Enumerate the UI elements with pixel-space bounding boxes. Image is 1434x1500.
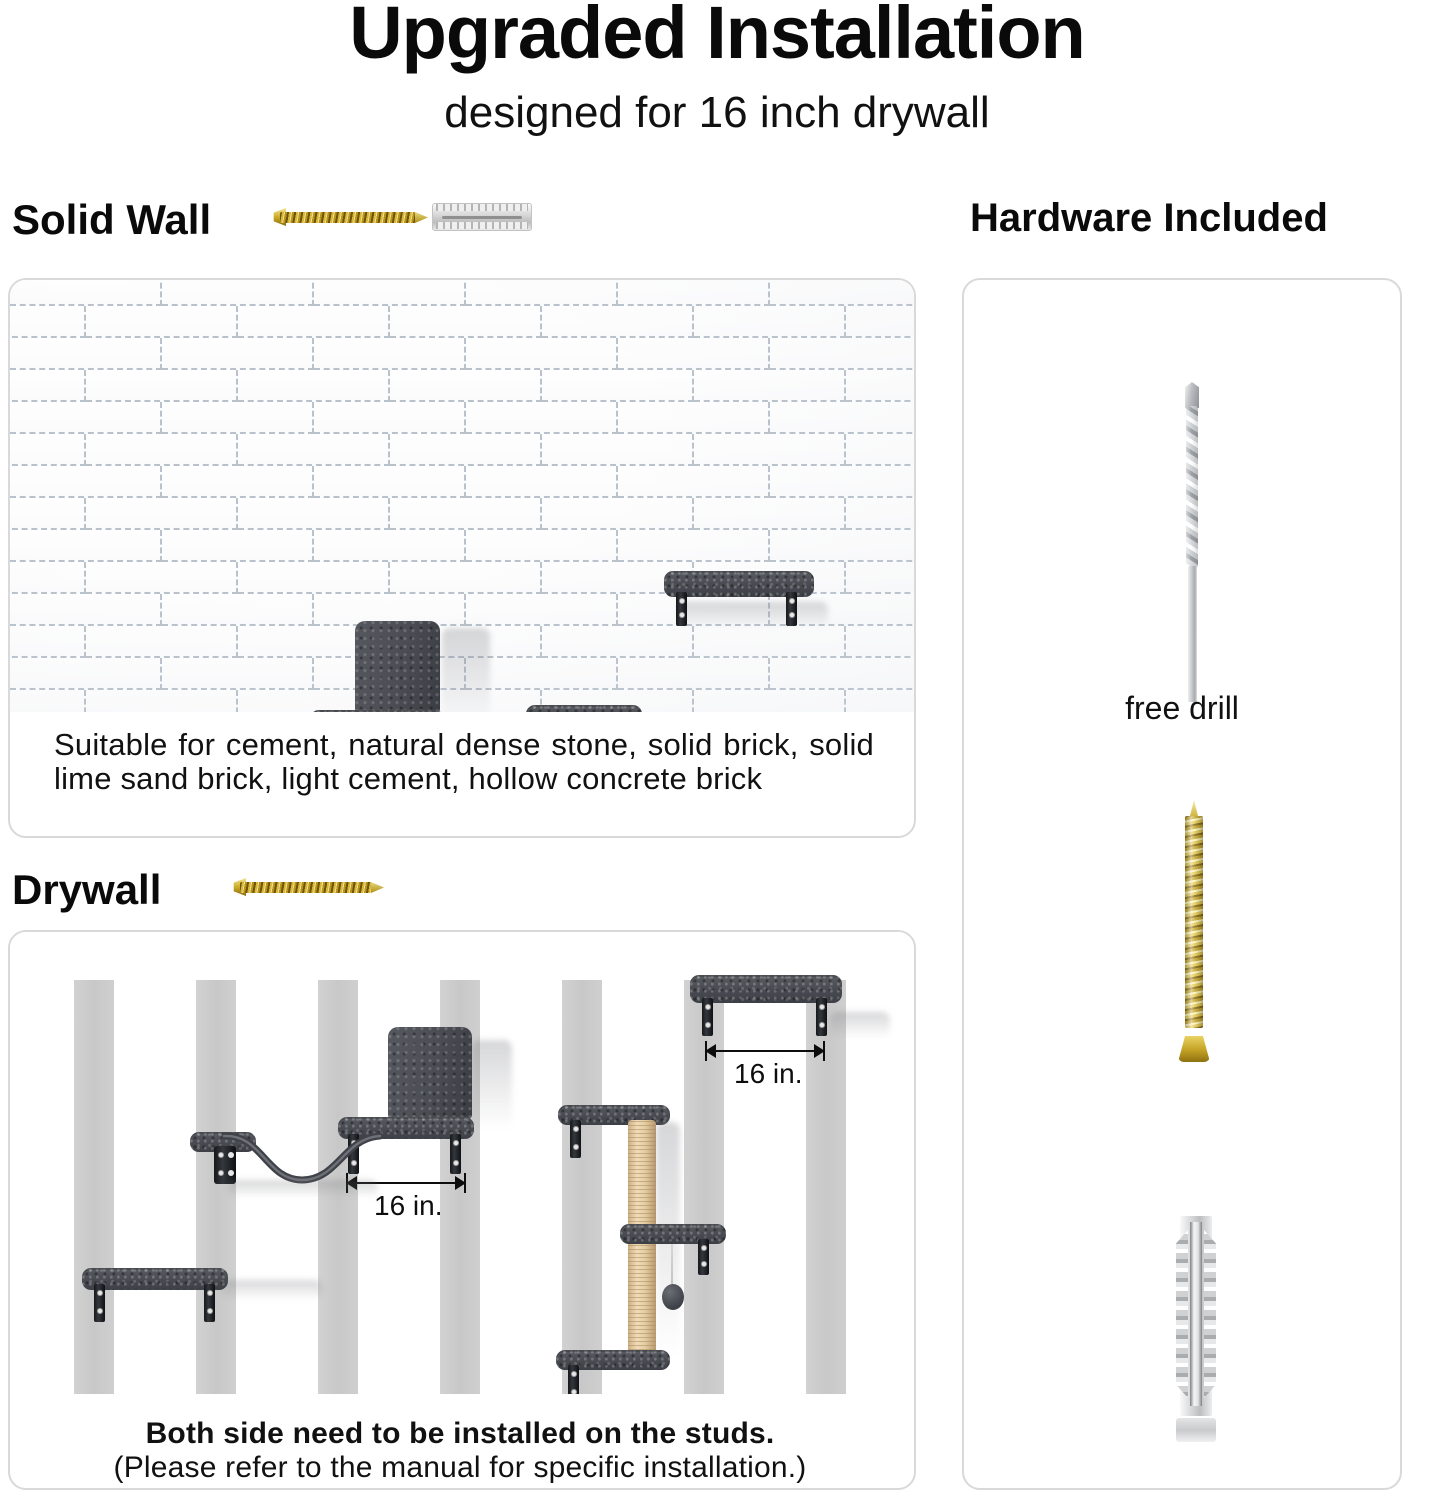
dimension-line-top	[705, 1050, 825, 1052]
cat-perch-block	[355, 621, 440, 712]
drywall-heading: Drywall	[12, 866, 161, 914]
wall-anchor-icon	[1176, 1216, 1216, 1442]
free-drill-label: free drill	[962, 690, 1402, 727]
cat-perch-block	[388, 1027, 472, 1119]
hanging-ball-toy	[662, 1284, 684, 1310]
hardware-included-heading: Hardware Included	[970, 196, 1328, 241]
solid-wall-heading: Solid Wall	[12, 196, 211, 244]
dimension-label-top: 16 in.	[734, 1058, 803, 1090]
infographic-page: Upgraded Installation designed for 16 in…	[0, 0, 1434, 1500]
post-mid-shelf	[620, 1224, 726, 1244]
gold-screw-icon	[1176, 800, 1212, 1062]
toy-string	[671, 1244, 673, 1288]
page-subtitle: designed for 16 inch drywall	[0, 88, 1434, 138]
stud-wall-illustration: 16 in. 16 in.	[10, 932, 914, 1394]
page-title: Upgraded Installation	[0, 0, 1434, 70]
gold-screw-icon	[272, 208, 428, 226]
drill-bit-icon	[1178, 382, 1206, 702]
drywall-caption-bold: Both side need to be installed on the st…	[10, 1418, 910, 1451]
gold-screw-icon	[232, 878, 384, 896]
drywall-panel: 16 in. 16 in.	[8, 930, 916, 1490]
wall-anchor-icon	[432, 200, 532, 234]
solid-wall-caption: Suitable for cement, natural dense stone…	[54, 728, 874, 796]
drywall-caption-note: (Please refer to the manual for specific…	[10, 1452, 910, 1485]
dimension-label-mid: 16 in.	[374, 1190, 443, 1222]
perch-base-shelf	[310, 710, 444, 712]
brick-wall-illustration	[10, 280, 914, 712]
post-top-shelf	[526, 705, 642, 712]
